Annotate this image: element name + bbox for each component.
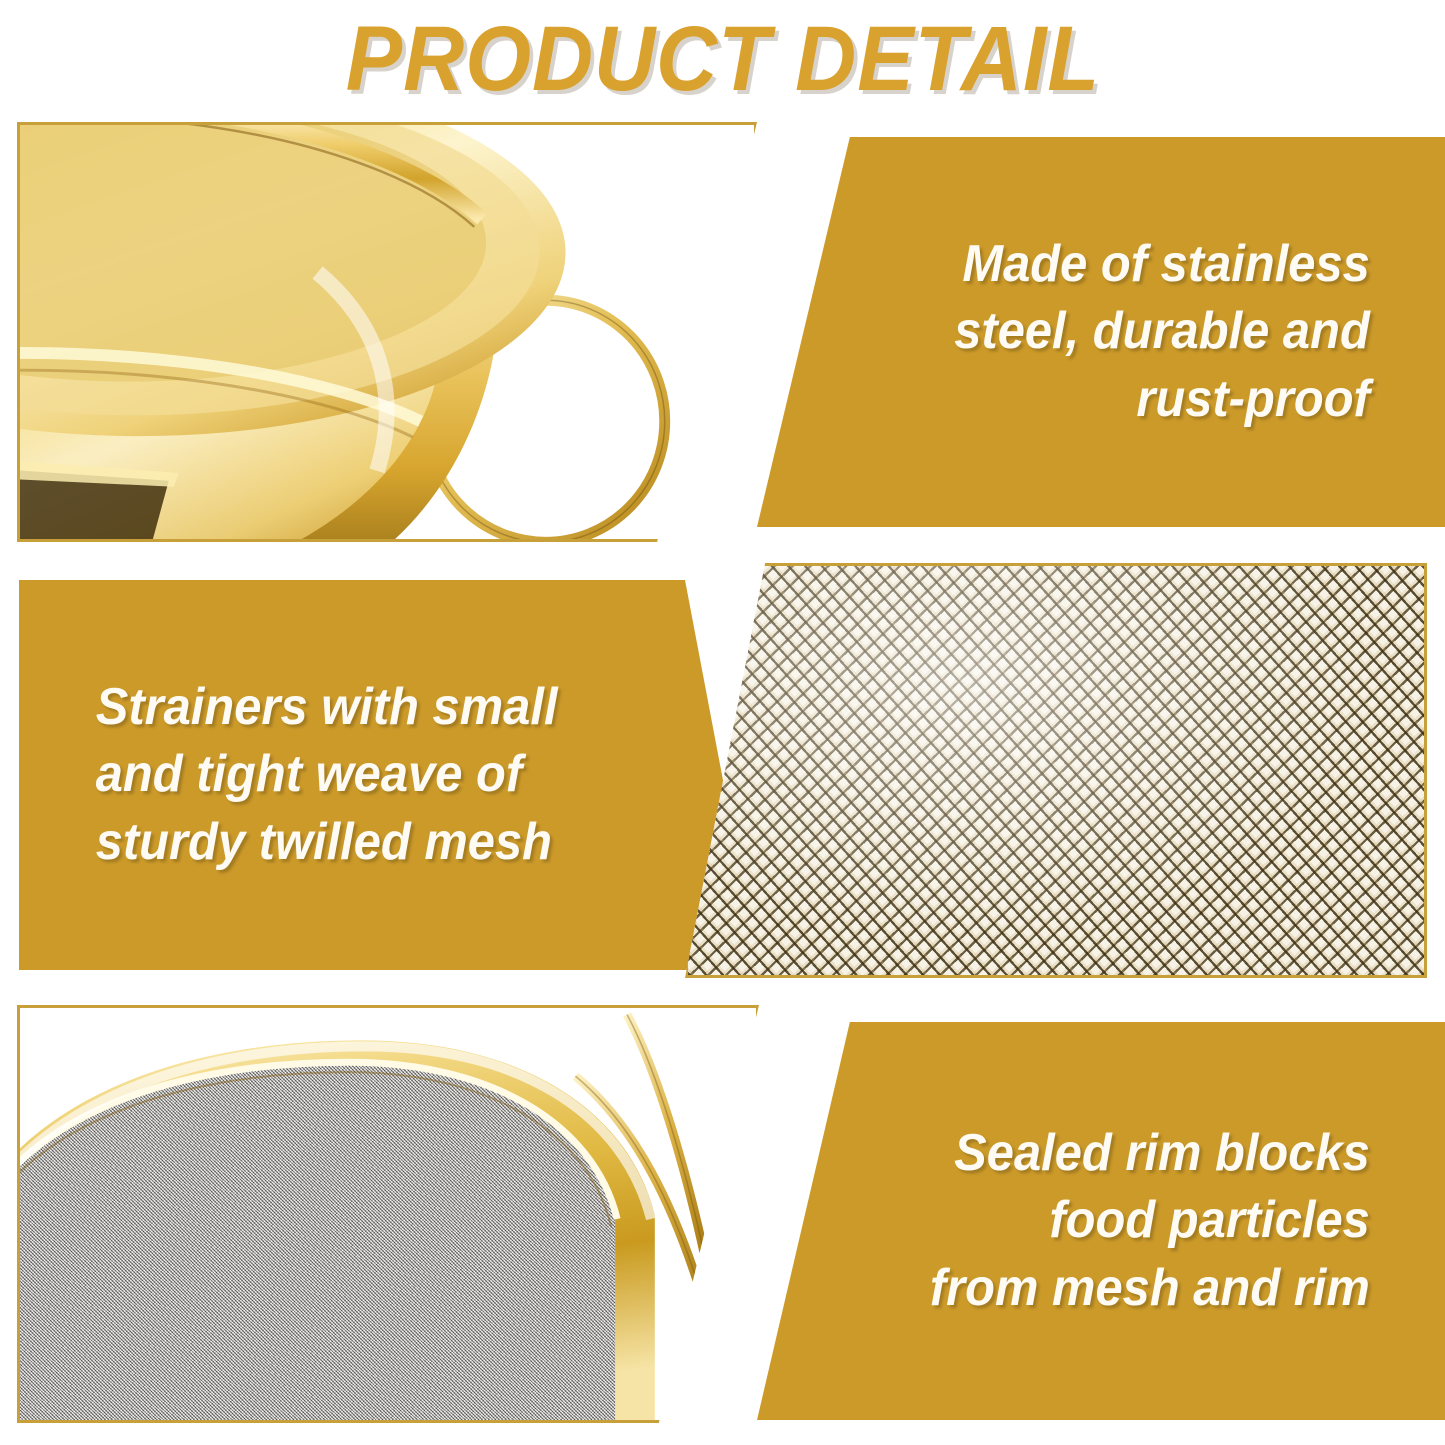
mesh-sheen-overlay	[688, 566, 1424, 975]
product-detail-infographic: PRODUCT DETAIL	[0, 0, 1445, 1445]
sealed-rim-illustration	[20, 1008, 756, 1420]
feature-2-photo	[685, 563, 1427, 978]
feature-3-caption: Sealed rim blocks food particles from me…	[778, 1120, 1425, 1323]
feature-3-caption-panel: Sealed rim blocks food particles from me…	[757, 1022, 1445, 1420]
gold-strainer-bowl-image	[20, 125, 754, 539]
feature-1-caption-panel: Made of stainless steel, durable and rus…	[757, 137, 1445, 527]
feature-1-photo	[17, 122, 757, 542]
feature-1-caption: Made of stainless steel, durable and rus…	[778, 231, 1425, 434]
sealed-rim-image	[20, 1008, 756, 1420]
page-title: PRODUCT DETAIL	[345, 7, 1099, 112]
page-header: PRODUCT DETAIL	[0, 0, 1445, 118]
feature-2-caption-panel: Strainers with small and tight weave of …	[19, 580, 759, 970]
feature-2-caption: Strainers with small and tight weave of …	[41, 674, 737, 877]
twilled-mesh-image	[688, 566, 1424, 975]
strainer-bowl-illustration	[20, 125, 754, 539]
feature-3-photo	[17, 1005, 759, 1423]
